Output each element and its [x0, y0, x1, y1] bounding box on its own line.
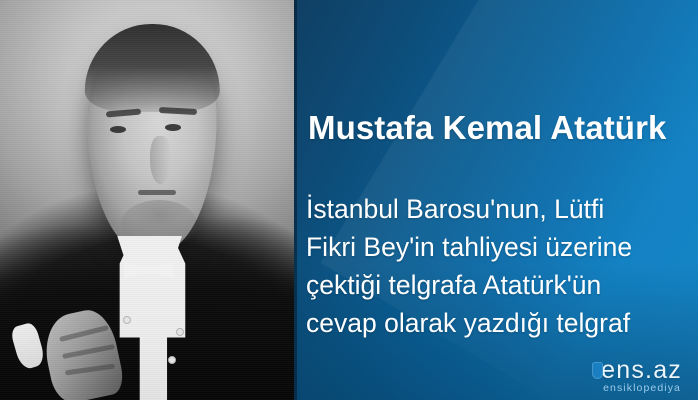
caption-line: İstanbul Barosu'nun, Lütfi [306, 190, 698, 228]
text-panel: Mustafa Kemal Atatürk İstanbul Barosu'nu… [294, 0, 698, 400]
ens-az-logo[interactable]: ens.az ensiklopediya [560, 358, 682, 394]
caption-line: cevap olarak yazdığı telgraf [306, 304, 698, 342]
quote-card: Mustafa Kemal Atatürk İstanbul Barosu'nu… [0, 0, 698, 400]
portrait-photo [0, 0, 294, 400]
nose [150, 136, 171, 184]
mouth [138, 190, 176, 195]
waistcoat-button [168, 356, 176, 364]
photo-backdrop [0, 0, 294, 400]
logo-mark-shape [592, 362, 603, 379]
page-title: Mustafa Kemal Atatürk [308, 108, 696, 148]
panel-left-edge [294, 0, 297, 400]
hair [85, 24, 220, 112]
right-eye [165, 124, 181, 131]
caption-line: Fikri Bey'in tahliyesi üzerine [306, 228, 698, 266]
caption-text: İstanbul Barosu'nun, Lütfi Fikri Bey'in … [306, 190, 698, 342]
caption-line: çektiği telgrafa Atatürk'ün [306, 266, 698, 304]
logo-wordmark: ens.az [560, 358, 682, 382]
